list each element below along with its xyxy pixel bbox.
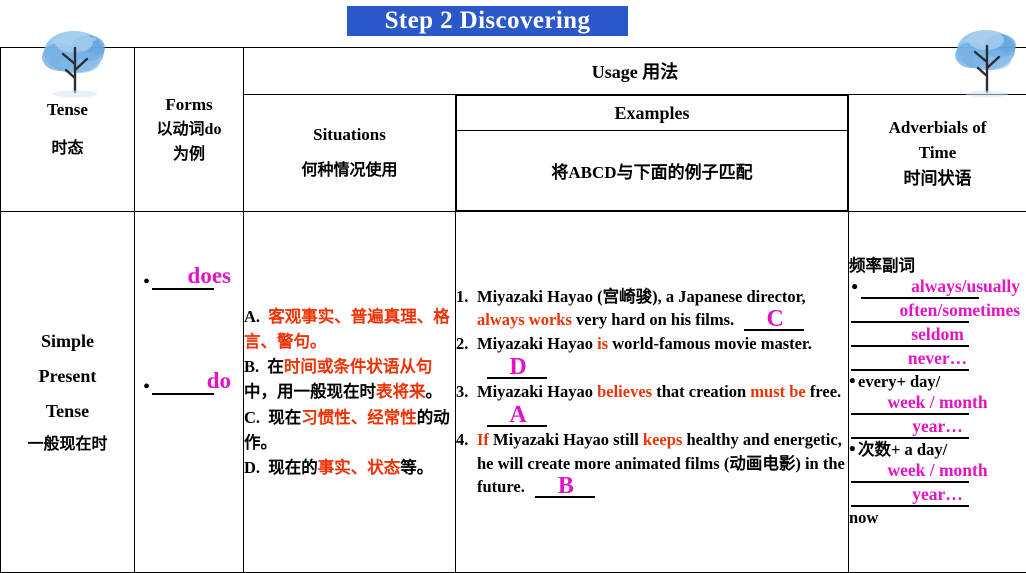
header-examples-instruction-cell: 将ABCD与下面的例子匹配 bbox=[457, 131, 848, 211]
situation-label: C. bbox=[244, 408, 260, 427]
situation-item: A. 客观事实、普遍真理、格言、警句。 bbox=[244, 304, 455, 354]
situation-text-red: 习惯性、经常性 bbox=[301, 408, 417, 427]
situation-text: 客观事实、普遍真理、格言、警句。 bbox=[244, 307, 450, 351]
header-usage-label: Usage 用法 bbox=[244, 58, 1026, 84]
example-answer-blank[interactable]: D bbox=[487, 357, 549, 379]
header-usage-cell: Usage 用法 bbox=[244, 48, 1026, 95]
example-answer-blank[interactable]: C bbox=[744, 309, 806, 331]
example-text-red: always works bbox=[477, 310, 572, 329]
header-situations-cell: Situations 何种情况使用 bbox=[244, 95, 456, 212]
example-number: 1. bbox=[456, 285, 477, 332]
example-text: very hard on his films. bbox=[572, 310, 734, 329]
example-number: 3. bbox=[456, 380, 477, 427]
example-text-red: If bbox=[477, 430, 489, 449]
header-examples-en: Examples bbox=[457, 103, 847, 124]
example-text: Miyazaki Hayao still bbox=[489, 430, 643, 449]
example-answer-letter: B bbox=[535, 476, 597, 496]
situation-text-red: 时间或条件状语从句 bbox=[284, 357, 433, 376]
example-text: that creation bbox=[652, 382, 750, 401]
bullet-icon: • bbox=[143, 272, 150, 292]
adverbial-item: week / month bbox=[849, 392, 1026, 413]
situation-text: 在 bbox=[267, 357, 284, 376]
adverbial-item: year… bbox=[849, 484, 1026, 505]
situation-item: C. 现在习惯性、经常性的动作。 bbox=[244, 405, 455, 455]
situation-item: B. 在时间或条件状语从句中，用一般现在时表将来。 bbox=[244, 354, 455, 404]
adverbial-group-title: 频率副词 bbox=[849, 256, 1026, 276]
adverbial-item: • always/usually bbox=[849, 276, 1026, 297]
example-answer-blank[interactable]: A bbox=[487, 405, 549, 427]
situation-text: 。 bbox=[426, 382, 443, 401]
form-blank-does[interactable]: • does bbox=[143, 264, 239, 290]
bullet-icon: • bbox=[143, 377, 150, 397]
situation-text-red: 事实、状态 bbox=[318, 458, 401, 477]
example-text: Miyazaki Hayao bbox=[477, 382, 597, 401]
header-situations-en: Situations bbox=[244, 122, 455, 148]
cell-examples: 1. Miyazaki Hayao (宫崎骏), a Japanese dire… bbox=[456, 212, 849, 573]
header-adverbials-en-2: Time bbox=[849, 140, 1026, 166]
header-adverbials-en-1: Adverbials of bbox=[849, 115, 1026, 141]
tense-name-line-1: Simple bbox=[1, 324, 134, 359]
header-situations-cn: 何种情况使用 bbox=[244, 159, 455, 184]
adverbial-item: never… bbox=[849, 348, 1026, 369]
cell-tense: Simple Present Tense 一般现在时 bbox=[1, 212, 135, 573]
table-row: Simple Present Tense 一般现在时 • does • do bbox=[1, 212, 1026, 573]
example-number: 4. bbox=[456, 428, 477, 498]
adverbial-item: •every+ day/ bbox=[849, 372, 1026, 392]
example-text-red: must be bbox=[750, 382, 805, 401]
tense-name-line-3: Tense bbox=[1, 394, 134, 429]
form-word-does: does bbox=[143, 264, 239, 288]
form-underline bbox=[152, 393, 214, 395]
example-answer-letter: C bbox=[744, 309, 806, 329]
adverbial-underline bbox=[851, 413, 969, 415]
adverbial-underline bbox=[851, 369, 969, 371]
tense-name-cn: 一般现在时 bbox=[1, 429, 134, 460]
form-blank-do[interactable]: • do bbox=[143, 369, 239, 395]
situation-label: A. bbox=[244, 307, 260, 326]
header-examples-title-cell: Examples bbox=[457, 96, 848, 131]
slide-title-banner: Step 2 Discovering bbox=[345, 4, 630, 38]
header-tense-cn: 时态 bbox=[1, 137, 134, 162]
situation-item: D. 现在的事实、状态等。 bbox=[244, 455, 455, 480]
example-item: 3. Miyazaki Hayao believes that creation… bbox=[456, 380, 848, 427]
header-forms-cn-2: 为例 bbox=[135, 143, 243, 168]
bullet-icon: • bbox=[849, 372, 858, 391]
adverbial-item: •次数+ a day/ bbox=[849, 440, 1026, 460]
situation-text: 现在的 bbox=[268, 458, 318, 477]
situation-label: D. bbox=[244, 458, 260, 477]
situation-label: B. bbox=[244, 357, 259, 376]
situation-text-red: 表将来 bbox=[376, 382, 426, 401]
header-tense-cell: Tense 时态 bbox=[1, 48, 135, 212]
adverbial-underline bbox=[851, 345, 969, 347]
header-examples-instruction: 将ABCD与下面的例子匹配 bbox=[457, 158, 847, 183]
example-item: 1. Miyazaki Hayao (宫崎骏), a Japanese dire… bbox=[456, 285, 848, 332]
form-underline bbox=[152, 288, 214, 290]
adverbial-item-now: now bbox=[849, 508, 1026, 528]
example-text-red: is bbox=[597, 334, 608, 353]
adverbial-underline bbox=[851, 481, 969, 483]
header-adverbials-cn: 时间状语 bbox=[849, 166, 1026, 192]
header-adverbials-cell: Adverbials of Time 时间状语 bbox=[849, 95, 1026, 212]
cell-adverbials: 频率副词 • always/usually often/sometimes se… bbox=[849, 212, 1026, 573]
adverbial-item: year… bbox=[849, 416, 1026, 437]
example-answer-letter: D bbox=[487, 357, 549, 377]
example-text: free. bbox=[806, 382, 841, 401]
slide-title-text: Step 2 Discovering bbox=[385, 7, 591, 35]
adverbial-underline bbox=[851, 505, 969, 507]
example-text-red: keeps bbox=[643, 430, 682, 449]
situation-text: 中，用一般现在时 bbox=[244, 382, 376, 401]
example-text: Miyazaki Hayao bbox=[477, 334, 597, 353]
header-forms-en: Forms bbox=[135, 92, 243, 118]
tense-name-line-2: Present bbox=[1, 359, 134, 394]
adverbial-underline bbox=[851, 437, 969, 439]
grammar-table: Tense 时态 Forms 以动词do 为例 Usage 用法 Situati… bbox=[0, 47, 1026, 573]
bullet-icon: • bbox=[849, 278, 858, 297]
example-number: 2. bbox=[456, 332, 477, 379]
example-text: Miyazaki Hayao (宫崎骏), a Japanese directo… bbox=[477, 287, 806, 306]
table-header-row: Tense 时态 Forms 以动词do 为例 Usage 用法 bbox=[1, 48, 1026, 95]
adverbial-underline bbox=[861, 297, 979, 299]
cell-forms: • does • do bbox=[135, 212, 244, 573]
adverbial-item: often/sometimes bbox=[849, 300, 1026, 321]
cell-situations: A. 客观事实、普遍真理、格言、警句。 B. 在时间或条件状语从句中，用一般现在… bbox=[244, 212, 456, 573]
bullet-icon: • bbox=[849, 440, 858, 459]
adverbial-underline bbox=[851, 321, 969, 323]
situation-text: 现在 bbox=[268, 408, 301, 427]
example-text-red: believes bbox=[597, 382, 652, 401]
form-word-do: do bbox=[143, 369, 239, 393]
situation-text: 等。 bbox=[400, 458, 433, 477]
adverbial-item: week / month bbox=[849, 460, 1026, 481]
adverbial-item: seldom bbox=[849, 324, 1026, 345]
examples-header-split: Examples 将ABCD与下面的例子匹配 bbox=[456, 95, 848, 211]
header-tense-en: Tense bbox=[1, 97, 134, 123]
example-answer-letter: A bbox=[487, 405, 549, 425]
header-forms-cell: Forms 以动词do 为例 bbox=[135, 48, 244, 212]
example-answer-blank[interactable]: B bbox=[535, 476, 597, 498]
example-text: world-famous movie master. bbox=[608, 334, 812, 353]
example-item: 2. Miyazaki Hayao is world-famous movie … bbox=[456, 332, 848, 379]
example-item: 4. If Miyazaki Hayao still keeps healthy… bbox=[456, 428, 848, 498]
header-forms-cn-1: 以动词do bbox=[135, 118, 243, 143]
header-examples-cell: Examples 将ABCD与下面的例子匹配 bbox=[456, 95, 849, 212]
